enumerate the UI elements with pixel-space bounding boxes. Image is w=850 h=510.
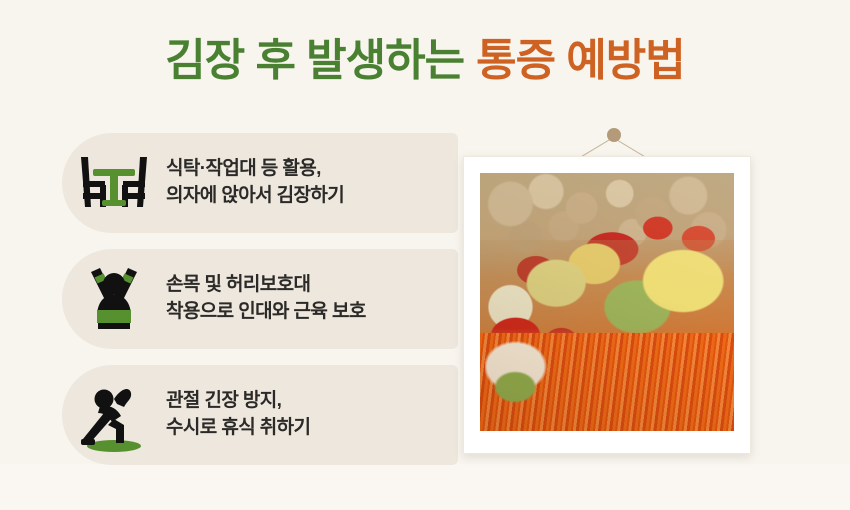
person-stretching-lunge-icon [62,377,166,453]
page-title-orange-part: 통증 예방법 [476,36,685,85]
tips-list: 식탁·작업대 등 활용, 의자에 앉아서 김장하기 [62,133,458,481]
photo-lighting-layer [480,173,734,431]
kimjang-kimchi-making-photo [480,173,734,431]
page-title: 김장 후 발생하는통증 예방법 [0,24,850,88]
tip-card-3-line2: 수시로 휴식 취하기 [166,415,310,442]
tip-card-2-line1: 손목 및 허리보호대 [166,272,366,299]
tip-card-3: 관절 긴장 방지, 수시로 휴식 취하기 [62,365,458,465]
tip-card-2-text: 손목 및 허리보호대 착용으로 인대와 근육 보호 [166,272,366,326]
tip-card-1: 식탁·작업대 등 활용, 의자에 앉아서 김장하기 [62,133,458,233]
hanging-photo-frame [463,156,751,454]
tip-card-1-text: 식탁·작업대 등 활용, 의자에 앉아서 김장하기 [166,156,344,210]
tip-card-2-line2: 착용으로 인대와 근육 보호 [166,299,366,326]
tip-card-3-text: 관절 긴장 방지, 수시로 휴식 취하기 [166,388,310,442]
nail-peg-icon [607,128,621,142]
person-wearing-wrist-and-waist-support-icon [62,264,166,334]
page-title-green-part: 김장 후 발생하는 [165,36,464,85]
tip-card-3-line1: 관절 긴장 방지, [166,388,310,415]
tip-card-2: 손목 및 허리보호대 착용으로 인대와 근육 보호 [62,249,458,349]
tip-card-1-line2: 의자에 앉아서 김장하기 [166,183,344,210]
table-and-chairs-icon [62,151,166,215]
tip-card-1-line1: 식탁·작업대 등 활용, [166,156,344,183]
